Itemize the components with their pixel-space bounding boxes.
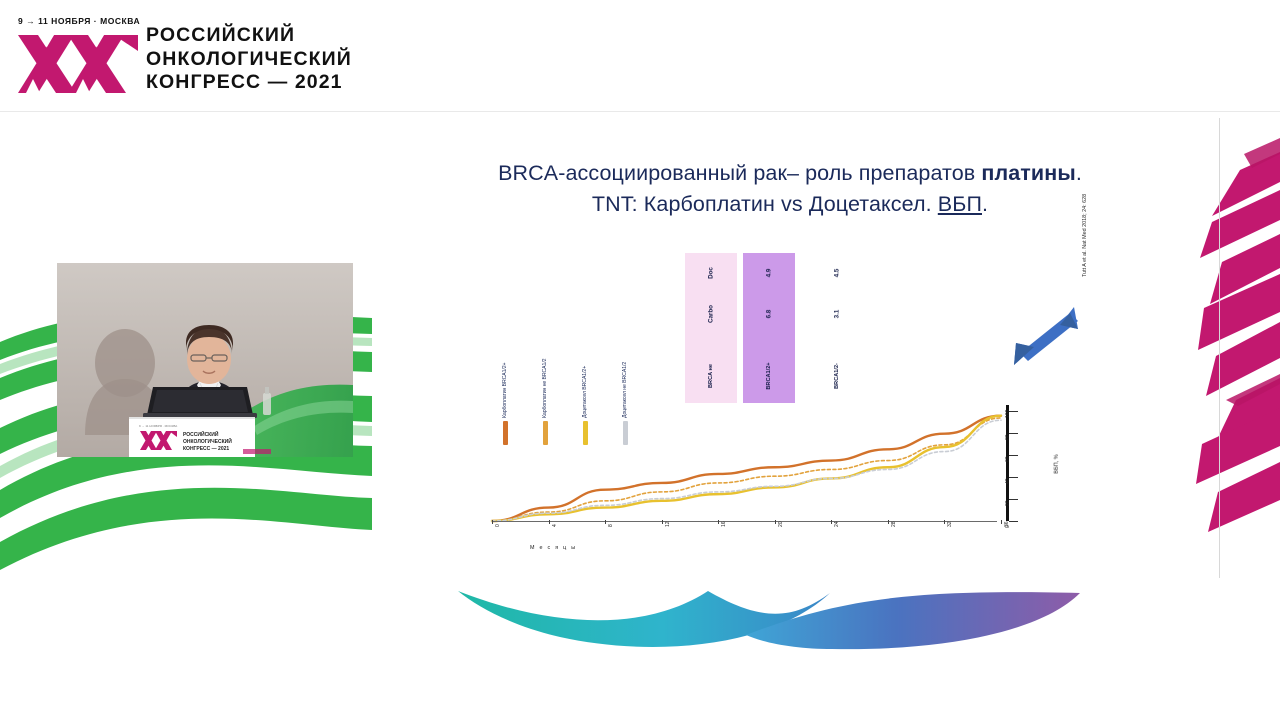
slide-title: BRCA-ассоциированный рак– роль препарато… [430, 158, 1150, 220]
table-header-col2: BRCA1/2+ [743, 349, 795, 403]
speaker-video-thumbnail[interactable]: 9 → 11 НОЯБРЯ · МОСКВА РОССИЙСКИЙ ОНКОЛО… [57, 263, 353, 457]
table-header-col3-text: BRCA1/2- [834, 363, 840, 389]
wordmark-line-2: ОНКОЛОГИЧЕСКИЙ [146, 48, 352, 72]
title-line1-emphasis: платины [981, 161, 1075, 185]
magenta-stripes-decoration [1192, 112, 1280, 582]
kaplan-meier-plot: 04812162024283236020406080100 Месяцы ВБП… [478, 403, 1023, 553]
svg-text:РОССИЙСКИЙ: РОССИЙСКИЙ [183, 430, 219, 438]
km-x-tick-label-7: 28 [891, 521, 897, 527]
congress-wordmark: РОССИЙСКИЙ ОНКОЛОГИЧЕСКИЙ КОНГРЕСС — 202… [146, 24, 352, 95]
km-x-axis-line [492, 521, 997, 522]
title-line2-text: TNT: Карбоплатин vs Доцетаксел. [592, 192, 938, 216]
km-x-tick-2 [605, 520, 606, 524]
km-x-tick-label-6: 24 [834, 521, 840, 527]
table-cell-doc: Doc [685, 253, 737, 293]
blue-arrow-icon [1008, 303, 1082, 369]
legend-label-0: Карбоплатин BRCA1/2+ [502, 286, 514, 418]
value-carbo-brca-positive: 6.8 [766, 310, 773, 319]
wordmark-line-1: РОССИЙСКИЙ [146, 24, 352, 48]
value-carbo-brca-negative: 3.1 [834, 310, 841, 319]
table-cell-carbo-text: Carbo [708, 305, 715, 323]
table-cell-carbo-brca-neg: 3.1 [811, 293, 863, 335]
km-x-tick-5 [775, 520, 776, 524]
table-column-3: 4.5 3.1 BRCA1/2- [811, 253, 863, 403]
congress-dates: 9 → 11 НОЯБРЯ · МОСКВА [18, 16, 140, 26]
legend-label-2: Доцетаксел BRCA1/2+ [582, 286, 594, 418]
wordmark-line-3: КОНГРЕСС — 2021 [146, 71, 352, 95]
km-x-tick-label-0: 0 [495, 524, 501, 527]
km-y-tick-label-1: 20 [1005, 500, 1011, 506]
table-header-col1: BRCA не [685, 349, 737, 403]
table-cell-carbo-brca-pos: 6.8 [743, 293, 795, 335]
page-header: 9 → 11 НОЯБРЯ · МОСКВА [0, 0, 1280, 112]
table-header-col2-text: BRCA1/2+ [766, 362, 772, 389]
km-y-tick-label-3: 60 [1005, 456, 1011, 462]
km-x-tick-label-1: 4 [552, 524, 558, 527]
km-x-tick-label-5: 20 [778, 521, 784, 527]
km-x-tick-4 [718, 520, 719, 524]
table-header-col3: BRCA1/2- [811, 349, 863, 403]
title-line2-underline: ВБП [938, 192, 982, 216]
km-curves [478, 403, 1023, 553]
table-cell-doc-text: Doc [708, 267, 715, 279]
header-divider [0, 111, 1280, 112]
km-series-0 [492, 416, 1001, 521]
legend-label-3: Доцетаксел не BRCA1/2 [622, 286, 634, 418]
xxv-logo-mark [16, 29, 140, 99]
km-x-tick-9 [1001, 520, 1002, 524]
title-line1-text: BRCA-ассоциированный рак– роль препарато… [498, 161, 981, 185]
km-x-tick-label-8: 32 [947, 521, 953, 527]
km-y-tick-label-0: 0 [1005, 525, 1011, 528]
km-x-tick-7 [888, 520, 889, 524]
km-x-tick-1 [549, 520, 550, 524]
slide-title-line-1: BRCA-ассоциированный рак– роль препарато… [430, 158, 1150, 189]
km-y-tick-label-2: 40 [1005, 478, 1011, 484]
value-doc-brca-negative: 4.5 [834, 269, 841, 278]
slide-figure: Карбоплатин BRCA1/2+ Карбоплатин не BRCA… [470, 245, 1160, 565]
legend-label-1: Карбоплатин не BRCA1/2 [542, 286, 554, 418]
km-series-2 [492, 416, 1001, 521]
svg-text:КОНГРЕСС — 2021: КОНГРЕСС — 2021 [183, 446, 229, 452]
table-column-1: Doc Carbo BRCA не [685, 253, 737, 403]
table-cell-doc-brca-pos: 4.9 [743, 253, 795, 293]
km-x-tick-6 [831, 520, 832, 524]
km-x-tick-0 [492, 520, 493, 524]
table-column-2: 4.9 6.8 BRCA1/2+ [743, 253, 795, 403]
km-x-tick-label-3: 12 [665, 521, 671, 527]
svg-text:ОНКОЛОГИЧЕСКИЙ: ОНКОЛОГИЧЕСКИЙ [183, 437, 232, 445]
title-line1-period: . [1076, 161, 1082, 185]
table-header-col1-text: BRCA не [708, 364, 714, 388]
km-x-tick-8 [944, 520, 945, 524]
km-y-tick-0 [1009, 521, 1018, 522]
value-doc-brca-positive: 4.9 [766, 269, 773, 278]
km-y-tick-label-5: 100 [1005, 410, 1011, 418]
km-y-tick-label-4: 80 [1005, 434, 1011, 440]
table-cell-carbo: Carbo [685, 293, 737, 335]
svg-text:9 → 11 НОЯБРЯ · МОСКВА: 9 → 11 НОЯБРЯ · МОСКВА [139, 424, 177, 428]
congress-logo: 9 → 11 НОЯБРЯ · МОСКВА [16, 16, 140, 100]
title-line2-period: . [982, 192, 988, 216]
km-x-tick-label-2: 8 [608, 524, 614, 527]
right-divider-line [1219, 118, 1220, 578]
km-y-axis-title: ВБП, % [1054, 454, 1060, 474]
table-cell-doc-brca-neg: 4.5 [811, 253, 863, 293]
slide-canvas: 9 → 11 НОЯБРЯ · МОСКВА [0, 0, 1280, 720]
bottom-wave-decoration [440, 565, 1160, 675]
km-x-axis-title: Месяцы [530, 545, 580, 551]
summary-table: Doc Carbo BRCA не 4.9 6.8 BRCA1/2+ [685, 253, 870, 403]
slide-title-line-2: TNT: Карбоплатин vs Доцетаксел. ВБП. [430, 189, 1150, 220]
km-x-tick-label-4: 16 [721, 521, 727, 527]
km-x-tick-3 [662, 520, 663, 524]
